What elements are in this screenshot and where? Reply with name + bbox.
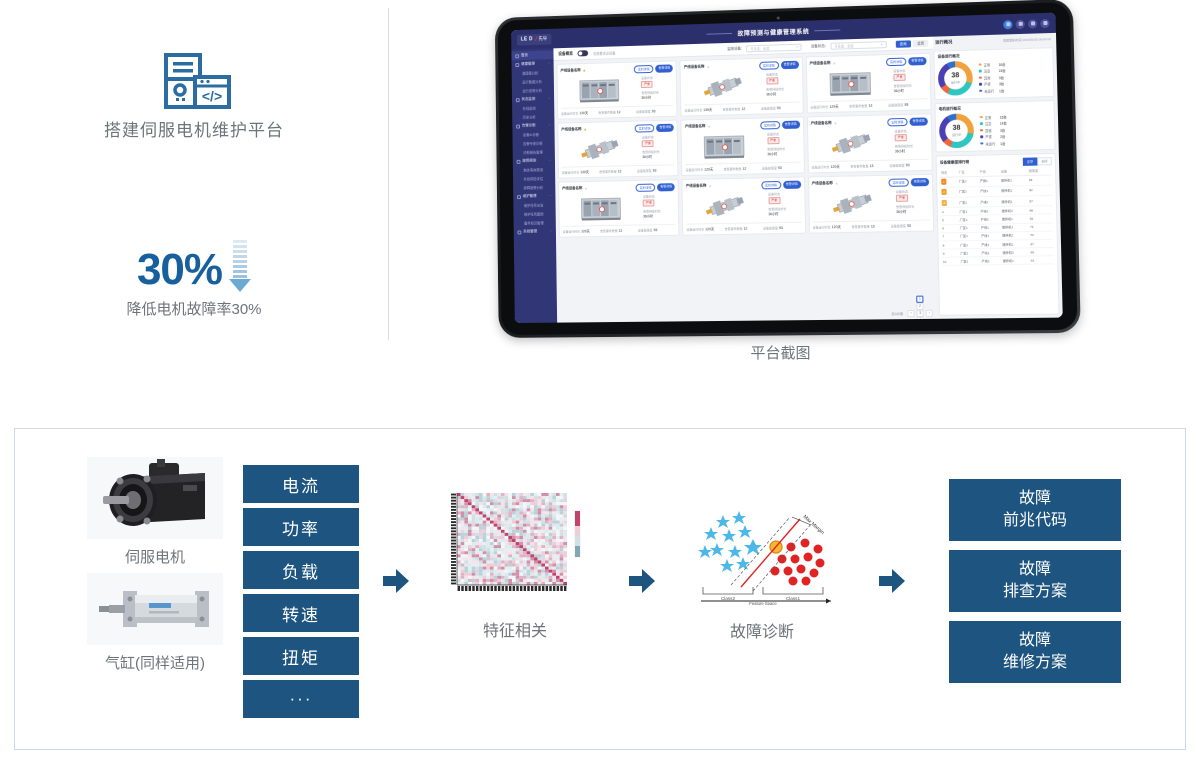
device-card[interactable]: 产线设备名称 ★ 实时详情 告警详情 设备状态 严重 告警持续时长 36小时 设… [558,179,680,238]
sensor-tag: ··· [243,680,359,718]
filter-device-label: 监测设备： [727,46,744,51]
cell-line: 产线1 [980,248,1001,257]
left-summary-panel: </> 搭建伺服电机维护平台 30% 降低电机故障率30% [0,0,388,348]
legend-color-dot [979,76,982,79]
platform-icon-wrapper: </> [0,52,388,119]
sensor-tag: 转速 [243,594,359,632]
sidebar-item-label: 诊断报告管理 [523,150,543,155]
metric-key: 告警事件数量 [723,107,741,111]
output-line-2: 前兆代码 [1003,510,1067,532]
chevron-up-icon: ⌃ [547,62,550,66]
duration-value: 36小时 [643,214,653,218]
svg-text:Feature Space: Feature Space [749,601,777,605]
output-box: 故障 排查方案 [949,550,1121,612]
page-button-1[interactable]: 1 [916,295,923,302]
right-header: 运行概况 数据更新时间 2020/05/20 08:00:00 [933,36,1053,48]
favorite-star-icon[interactable]: ★ [832,61,836,66]
platform-label: 搭建伺服电机维护平台 [0,116,388,141]
device-select[interactable]: 可多选、全选 ▾ [746,43,802,52]
sidebar-item-label: 告警诊断 [522,123,536,128]
legend-color-dot [980,142,983,145]
cell-line: 产线1 [979,186,1000,197]
device-card[interactable]: 产线设备名称 ★ 实时详情 告警详情 设备状态 严重 告警持续时长 36小时 设… [557,60,678,119]
card-footer: 设备运行时长 129天 告警事件数量 13 设备健康度 95 [810,98,927,109]
metric-value: 93 [653,169,657,173]
donut-label: 运行中 [951,80,960,84]
metric-value: 120天 [831,165,840,169]
output-line-1: 故障 [1019,559,1051,581]
favorite-star-icon[interactable]: ★ [584,186,588,191]
rank-medal-icon: 2 [941,189,946,195]
device-image [686,191,766,222]
metric-value: 12 [741,107,745,111]
duration-value: 36小时 [768,212,778,216]
legend-color-dot [980,136,983,139]
realtime-detail-button[interactable]: 实时详情 [888,178,908,186]
metric-alarm-count: 告警事件数量 13 [849,102,888,108]
metric-key: 设备运行时长 [813,225,831,229]
metric-value: 93 [654,228,658,232]
cell-rank: 1 [940,176,958,187]
legend-label: 注意 [985,121,997,126]
device-legend: 正常 16台 注意 15台 异常 3台 严重 3台 未运行 1台 [979,61,1007,93]
duration-value: 36小时 [767,152,777,156]
sensor-tag: 功率 [243,508,359,546]
sidebar-item-label: 失效风险评估 [524,176,544,181]
metric-alarm-count: 告警事件数量 12 [599,168,637,174]
card-status-info: 设备状态 严重 告警持续时长 36小时 [768,190,801,220]
device-image [811,128,892,159]
rank-sort-desc[interactable]: 倒序 [1037,157,1052,165]
flow-arrow-3-icon [879,569,905,593]
device-card-grid: 产线设备名称 ★ 实时详情 告警详情 设备状态 严重 告警持续时长 36小时 设… [554,50,939,311]
status-select[interactable]: 可多选、全选 ▾ [830,41,886,50]
card-status-info: 设备状态 严重 告警持续时长 36小时 [642,133,675,163]
metric-runtime: 设备运行时长 120天 [813,224,852,230]
card-middle: 设备状态 严重 告警持续时长 36小时 [686,190,802,221]
sidebar-item-label: 备件知识管理 [524,220,544,225]
metric-value: 120天 [581,229,590,233]
alarm-detail-button[interactable]: 告警详情 [781,61,799,69]
realtime-detail-button[interactable]: 实时详情 [636,184,656,192]
right-title: 运行概况 [935,39,952,46]
card-middle: 设备状态 严重 告警持续时长 36小时 [684,70,799,102]
favorites-toggle[interactable] [578,50,589,56]
metric-value: 93 [906,163,910,167]
device-select-value: 可多选、全选 [750,45,769,51]
card-buttons: 实时详情 告警详情 [761,181,801,189]
device-card[interactable]: 产线设备名称 ★ 实时详情 告警详情 设备状态 严重 告警持续时长 36小时 设… [808,174,935,234]
page-button-2[interactable]: 2 [916,302,923,309]
cell-line: 产线1 [981,257,1002,266]
alarm-detail-button[interactable]: 告警详情 [657,183,675,191]
legend-item: 正常 15台 [980,114,1007,120]
alarm-detail-button[interactable]: 告警详情 [783,181,801,189]
cell-health: 87 [1028,195,1053,206]
card-footer: 设备运行时长 139天 告警事件数量 12 设备健康度 93 [684,102,799,113]
title-line-left [707,32,733,34]
realtime-detail-button[interactable]: 实时详情 [886,58,906,66]
card-buttons: 实时详情 告警详情 [887,117,928,126]
card-middle: 设备状态 严重 告警持续时长 36小时 [810,67,928,100]
update-time: 数据更新时间 2020/05/20 08:00:00 [1003,37,1051,42]
legend-label: 注意 [984,68,996,73]
filter-status-label: 设备状态： [811,43,829,49]
metric-runtime: 设备运行时长 120天 [563,228,601,234]
card-status-info: 设备状态 严重 告警持续时长 36小时 [766,70,799,100]
metric-value: 12 [744,227,748,231]
metric-value: 13 [868,104,872,108]
page-next[interactable]: › [926,309,933,316]
bell-icon[interactable] [1028,19,1037,28]
card-middle: 设备状态 严重 告警持续时长 36小时 [811,127,929,159]
motor-overview-panel: 电机运行概况 38 运行中 [935,100,1056,153]
svg-text:Class1: Class1 [786,596,800,601]
page-number-list: 12345 [916,295,924,323]
card-middle: 设备状态 严重 告警持续时长 36小时 [812,188,930,220]
gear-icon[interactable] [1040,18,1049,27]
rank-header: 设备健康度排行榜 正序 倒序 [940,157,1052,167]
reset-button[interactable]: 重置 [913,40,928,47]
card-buttons: 实时详情 告警详情 [760,121,800,130]
sidebar-item-label: 历史分析 [523,114,536,119]
metric-value: 13 [871,224,875,228]
title-line-right [814,29,840,31]
legend-color-dot [980,122,983,125]
logo-cn-text: 先导 [538,36,547,42]
app-window: LE D / 先导 故障预测与健康管理系统 [511,13,1063,323]
legend-item: 异常 3台 [980,127,1007,133]
legend-color-dot [980,129,983,132]
cell-line: 产线1 [980,232,1001,241]
alarm-detail-button[interactable]: 告警详情 [782,121,800,129]
motor-legend: 正常 15台 注意 14台 异常 3台 严重 2台 未运行 1台 [980,114,1008,146]
metric-value: 12 [619,229,623,233]
metric-value: 93 [778,166,782,170]
device-overview-panel: 设备运行概况 38 运行中 [933,47,1054,100]
duration-key: 告警持续时长 [766,87,784,91]
alarm-detail-button[interactable]: 告警详情 [655,64,673,72]
rank-sort-asc[interactable]: 正序 [1023,157,1038,165]
alarm-detail-button[interactable]: 告警详情 [656,124,674,132]
air-cylinder-photo [87,573,223,645]
metric-key: 告警事件数量 [725,227,743,231]
duration-value: 36小时 [896,209,906,213]
card-header: 产线设备名称 ★ 实时详情 告警详情 [812,178,929,188]
cell-rank: 5 [941,216,959,225]
favorite-star-icon[interactable]: ★ [583,127,587,132]
metric-alarm-count: 告警事件数量 13 [850,163,889,169]
realtime-detail-button[interactable]: 实时详情 [759,61,779,69]
favorite-star-icon[interactable]: ★ [583,68,587,73]
card-header: 产线设备名称 ★ 实时详情 告警详情 [811,117,928,127]
stat-block: 30% 降低电机故障率30% [0,240,388,319]
favorite-star-icon[interactable]: ★ [707,124,711,129]
metric-key: 告警事件数量 [850,164,868,168]
status-badge: 严重 [766,77,778,84]
duration-key: 告警持续时长 [895,144,913,148]
favorite-star-icon[interactable]: ★ [706,65,710,70]
cell-rank: 4 [941,207,959,216]
metric-health: 设备健康度 93 [763,225,802,231]
sensor-tag: 电流 [243,465,359,503]
device-card[interactable]: 产线设备名称 ★ 实时详情 告警详情 设备状态 严重 告警持续时长 36小时 设… [807,113,933,173]
camera-dot-icon [776,17,779,20]
realtime-detail-button[interactable]: 实时详情 [634,65,654,73]
legend-value: 3台 [999,74,1004,79]
metric-key: 告警事件数量 [851,225,869,229]
stage-caption: 故障诊断 [677,618,847,642]
sidebar-item-label: 剩余寿命预测 [523,167,543,172]
toggle-note: 仅查看关注设备 [593,50,615,56]
favorite-star-icon[interactable]: ★ [708,184,712,189]
metric-value: 93 [652,109,656,113]
cell-line: 产线2 [979,196,1000,207]
rank-medal-icon: 1 [941,179,946,185]
cell-rank: 7 [941,232,959,241]
app-title: 故障预测与健康管理系统 [737,26,809,37]
legend-color-dot [980,116,983,119]
metric-value: 120天 [704,167,713,171]
realtime-detail-button[interactable]: 实时详情 [887,118,907,126]
app-content: 设备概览 仅查看关注设备 监测设备： 可多选、全选 ▾ [553,33,1062,323]
sensor-tag: 扭矩 [243,637,359,675]
feature-correlation-stage: 特征相关 [425,479,605,641]
card-status-info: 设备状态 严重 告警持续时长 36小时 [767,130,800,160]
realtime-detail-button[interactable]: 实时详情 [635,124,655,132]
metric-alarm-count: 告警事件数量 12 [723,106,761,112]
filter-actions: 查询 重置 [896,40,929,46]
donut-center: 38 运行中 [938,61,973,96]
alarm-detail-button[interactable]: 告警详情 [909,117,927,125]
duration-key: 告警持续时长 [896,204,914,208]
query-button[interactable]: 查询 [896,40,911,47]
legend-item: 严重 2台 [980,134,1007,140]
output-list: 故障 前兆代码故障 排查方案故障 维修方案 [949,479,1121,692]
legend-item: 未运行 1台 [980,140,1007,146]
card-middle: 设备状态 严重 告警持续时长 36小时 [561,74,674,106]
sidebar-item-label: 系统管理 [523,229,537,234]
status-key: 设备状态 [767,132,779,136]
card-header: 产线设备名称 ★ 实时详情 告警详情 [686,181,801,191]
svg-text:</>: </> [202,88,222,104]
legend-color-dot [979,70,982,73]
cell-rank: 8 [942,241,960,250]
pagination-total: 共400条 [891,311,903,316]
stage-caption: 特征相关 [425,617,605,641]
realtime-detail-button[interactable]: 实时详情 [761,181,781,189]
card-header: 产线设备名称 ★ 实时详情 告警详情 [685,121,800,131]
card-device-name: 产线设备名称 [812,181,833,186]
fault-diagnosis-stage: Max Margin Class2 Class1 Feature Space 故… [677,501,847,642]
card-device-name: 产线设备名称 [685,124,706,129]
tool-icon [517,195,521,199]
metric-alarm-count: 告警事件数量 12 [598,109,636,115]
metric-key: 设备运行时长 [685,168,703,172]
flow-arrow-1-icon [383,569,409,593]
sidebar-item-20[interactable]: 系统管理⌃ [514,227,556,237]
metric-key: 设备运行时长 [562,170,579,174]
sidebar-item-label: 健康管理 [521,62,535,67]
legend-value: 15台 [1000,114,1007,119]
card-footer: 设备运行时长 120天 告警事件数量 13 设备健康度 93 [813,219,931,229]
status-key: 设备状态 [893,68,905,72]
servo-motor-photo [87,457,223,539]
page-button-3[interactable]: 3 [916,309,923,316]
card-footer: 设备运行时长 120天 告警事件数量 12 设备健康度 93 [685,162,800,172]
sidebar-item-label: 首页 [521,53,528,58]
favorite-star-icon[interactable]: ★ [835,181,839,186]
metric-key: 告警事件数量 [598,110,615,114]
legend-value: 3台 [1000,127,1005,132]
heart-icon [515,63,519,67]
card-buttons: 实时详情 告警详情 [759,61,799,70]
home-icon[interactable] [1015,19,1024,28]
motor-donut-chart: 38 运行中 [939,113,974,148]
vertical-divider [388,8,389,340]
status-badge: 严重 [895,134,907,141]
output-box: 故障 维修方案 [949,621,1121,683]
legend-value: 14台 [1000,121,1007,126]
legend-label: 严重 [985,134,997,139]
card-footer: 设备运行时长 120天 告警事件数量 12 设备健康度 93 [563,224,676,234]
table-row[interactable]: 10 厂区1 产线1 搅拌机1 61 [942,256,1054,266]
chevron-up-icon: ⌃ [549,229,552,233]
cell-device: 搅拌机1 [1000,175,1028,186]
sidebar-item-label: 运行态势分析 [522,88,542,93]
app-title-wrap: 故障预测与健康管理系统 [707,25,841,38]
metric-key: 告警事件数量 [600,229,618,233]
cell-area: 厂区1 [959,249,980,258]
metric-health: 设备健康度 93 [761,105,800,111]
card-buttons: 实时详情 告警详情 [888,178,929,186]
metric-key: 设备健康度 [888,103,903,107]
legend-value: 1台 [999,88,1004,93]
chevron-up-icon: ⌃ [549,194,552,198]
cell-health: 90 [1028,185,1053,196]
metric-key: 设备健康度 [636,109,651,113]
card-status-info: 设备状态 严重 告警持续时长 36小时 [641,74,674,104]
device-card[interactable]: 产线设备名称 ★ 实时详情 告警详情 设备状态 严重 告警持续时长 36小时 设… [680,57,804,117]
chevron-up-icon: ⌃ [549,159,552,163]
legend-value: 16台 [998,61,1005,66]
metric-alarm-count: 告警事件数量 12 [724,165,762,171]
metric-runtime: 设备运行时长 139天 [684,107,722,113]
status-key: 设备状态 [643,194,655,198]
status-badge: 严重 [642,140,654,147]
cell-rank: 3 [941,197,959,208]
slide-root: </> 搭建伺服电机维护平台 30% 降低电机故障率30% [0,0,1198,764]
realtime-detail-button[interactable]: 实时详情 [760,121,780,129]
page-prev[interactable]: ‹ [907,309,914,316]
cell-health: 93 [1028,175,1053,186]
user-icon[interactable] [1003,20,1012,29]
metric-key: 设备运行时长 [811,165,829,169]
status-key: 设备状态 [895,129,907,133]
metric-value: 93 [907,224,911,228]
brand-logo[interactable]: LE D / 先导 [517,33,551,45]
equipment-column: 伺服电机 [75,457,235,679]
tablet-screen: LE D / 先导 故障预测与健康管理系统 [511,13,1063,323]
favorite-star-icon[interactable]: ★ [834,121,838,126]
metric-key: 设备运行时长 [684,108,702,112]
metric-runtime: 设备运行时长 120天 [686,226,724,232]
card-footer: 设备运行时长 120天 告警事件数量 13 设备健康度 93 [811,159,928,170]
right-column: 运行概况 数据更新时间 2020/05/20 08:00:00 设备运行概况 [933,33,1063,319]
rank-title: 设备健康度排行榜 [940,160,969,166]
device-card[interactable]: 产线设备名称 ★ 实时详情 告警详情 设备状态 严重 告警持续时长 36小时 设… [682,177,806,236]
metric-key: 设备健康度 [761,106,776,110]
legend-value: 3台 [999,81,1004,86]
output-line-1: 故障 [1019,630,1051,652]
metric-key: 设备健康度 [638,228,653,232]
device-image [561,75,639,106]
cell-area: 厂区1 [958,176,979,187]
sensor-list: 电流功率负载转速扭矩··· [243,465,359,723]
cell-line: 产线1 [979,176,1000,187]
card-middle: 设备状态 严重 告警持续时长 36小时 [562,193,675,224]
motor-donut-row: 38 运行中 正常 15台 注意 14台 异常 3台 严重 2台 未运行 1台 [939,111,1052,148]
metric-key: 设备运行时长 [563,229,580,233]
device-card[interactable]: 产线设备名称 ★ 实时详情 告警详情 设备状态 严重 告警持续时长 36小时 设… [805,53,931,114]
alarm-detail-button[interactable]: 告警详情 [908,57,926,65]
status-key: 设备状态 [896,189,908,193]
card-buttons: 实时详情 告警详情 [634,64,673,73]
sidebar-item-label: 故障趋势分析 [524,185,544,190]
sidebar-item-label: 维护任务跟踪 [524,211,544,216]
donut-label: 运行中 [952,133,961,137]
device-image [812,188,893,219]
device-donut-chart: 38 运行中 [938,61,973,96]
metric-runtime: 设备运行时长 120天 [811,163,850,169]
duration-value: 36小时 [895,149,905,153]
legend-item: 异常 3台 [979,74,1006,80]
metric-key: 设备健康度 [763,226,778,230]
tech-flow: 伺服电机 [15,429,1185,749]
chevron-up-icon: ⌃ [548,123,551,127]
card-device-name: 产线设备名称 [810,61,831,67]
metric-key: 设备健康度 [889,163,904,167]
legend-color-dot [979,83,982,86]
metric-key: 告警事件数量 [849,104,867,108]
cell-area: 厂区1 [959,232,980,241]
alarm-detail-button[interactable]: 告警详情 [911,178,929,186]
card-middle: 设备状态 严重 告警持续时长 36小时 [561,133,674,165]
metric-runtime: 设备运行时长 129天 [810,103,849,109]
cell-area: 厂区1 [958,197,979,208]
tablet-frame: LE D / 先导 故障预测与健康管理系统 [495,0,1081,338]
correlation-heatmap-icon [435,479,595,604]
metric-value: 12 [618,169,622,173]
metric-key: 告警事件数量 [724,167,742,171]
device-card[interactable]: 产线设备名称 ★ 实时详情 告警详情 设备状态 严重 告警持续时长 36小时 设… [681,116,805,176]
metric-key: 设备健康度 [762,166,777,170]
chart-icon [517,159,521,163]
equipment-caption: 伺服电机 [75,546,235,567]
metric-value: 93 [777,106,781,110]
device-image [810,68,891,100]
cell-rank: 6 [941,224,959,233]
legend-item: 注意 14台 [980,121,1007,127]
card-status-info: 设备状态 严重 告警持续时长 36小时 [643,193,676,223]
cell-rank: 10 [942,257,960,266]
metric-health: 设备健康度 93 [636,108,674,114]
output-line-1: 故障 [1019,488,1051,510]
flow-arrow-2-icon [629,569,655,593]
device-card[interactable]: 产线设备名称 ★ 实时详情 告警详情 设备状态 严重 告警持续时长 36小时 设… [557,120,678,179]
page-button-4[interactable]: 4 [917,316,924,323]
card-device-name: 产线设备名称 [561,127,581,132]
